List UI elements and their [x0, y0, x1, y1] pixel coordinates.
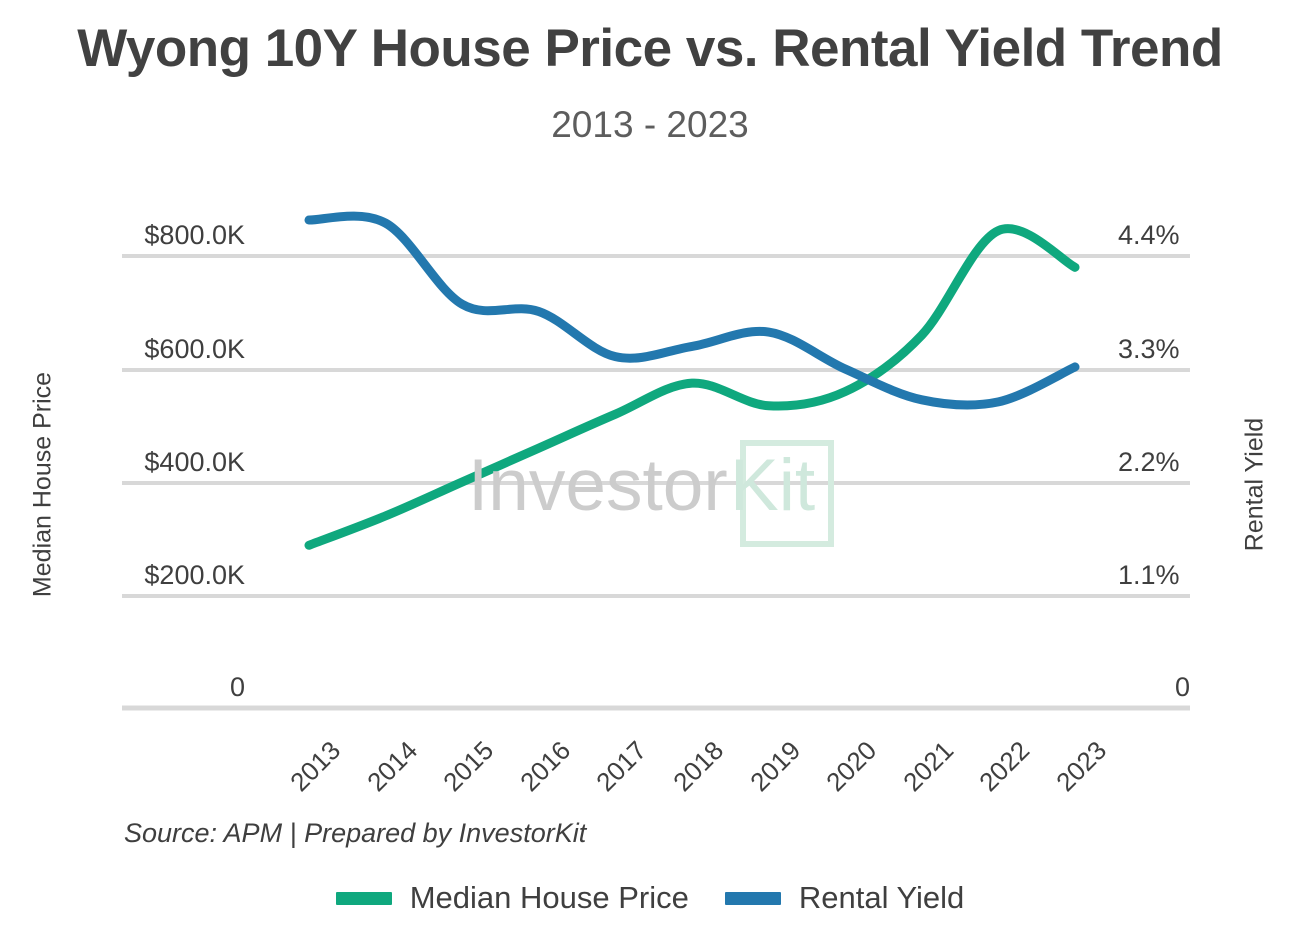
right-axis-tick-label: 3.3%: [1118, 334, 1278, 365]
watermark-text-primary: Investor: [468, 444, 728, 527]
left-axis-tick-label: $400.0K: [0, 447, 245, 478]
source-note: Source: APM | Prepared by InvestorKit: [124, 818, 586, 849]
x-axis-tick-label: 2023: [1020, 735, 1113, 828]
left-axis-tick-label: $600.0K: [0, 334, 245, 365]
x-axis-tick-label: 2015: [407, 735, 500, 828]
x-axis-tick-label: 2022: [944, 735, 1037, 828]
chart-container: Wyong 10Y House Price vs. Rental Yield T…: [0, 0, 1300, 938]
x-axis-tick-label: 2018: [637, 735, 730, 828]
right-axis-tick-label: 2.2%: [1118, 447, 1278, 478]
x-axis-tick-label: 2021: [867, 735, 960, 828]
legend-swatch-icon: [336, 892, 392, 905]
chart-legend: Median House PriceRental Yield: [0, 880, 1300, 916]
watermark-text-accent: Kit: [730, 444, 815, 527]
left-axis-tick-label: 0: [0, 672, 245, 703]
right-axis-tick-label: 1.1%: [1118, 560, 1278, 591]
x-axis-tick-label: 2017: [561, 735, 654, 828]
x-axis-tick-label: 2020: [790, 735, 883, 828]
chart-subtitle: 2013 - 2023: [0, 104, 1300, 146]
legend-label: Rental Yield: [799, 880, 964, 916]
left-axis-tick-label: $200.0K: [0, 560, 245, 591]
left-axis-tick-label: $800.0K: [0, 220, 245, 251]
legend-item[interactable]: Median House Price: [336, 880, 689, 916]
right-axis-tick-label: 0: [1118, 672, 1190, 703]
watermark: Investor Kit: [468, 432, 868, 552]
legend-item[interactable]: Rental Yield: [725, 880, 964, 916]
x-axis-tick-label: 2019: [714, 735, 807, 828]
legend-label: Median House Price: [410, 880, 689, 916]
chart-title: Wyong 10Y House Price vs. Rental Yield T…: [0, 18, 1300, 79]
series-line-rental-yield: [309, 216, 1075, 405]
legend-swatch-icon: [725, 892, 781, 905]
x-axis-tick-label: 2013: [254, 735, 347, 828]
x-axis-tick-label: 2016: [484, 735, 577, 828]
x-axis-tick-label: 2014: [331, 735, 424, 828]
right-axis-tick-label: 4.4%: [1118, 220, 1278, 251]
